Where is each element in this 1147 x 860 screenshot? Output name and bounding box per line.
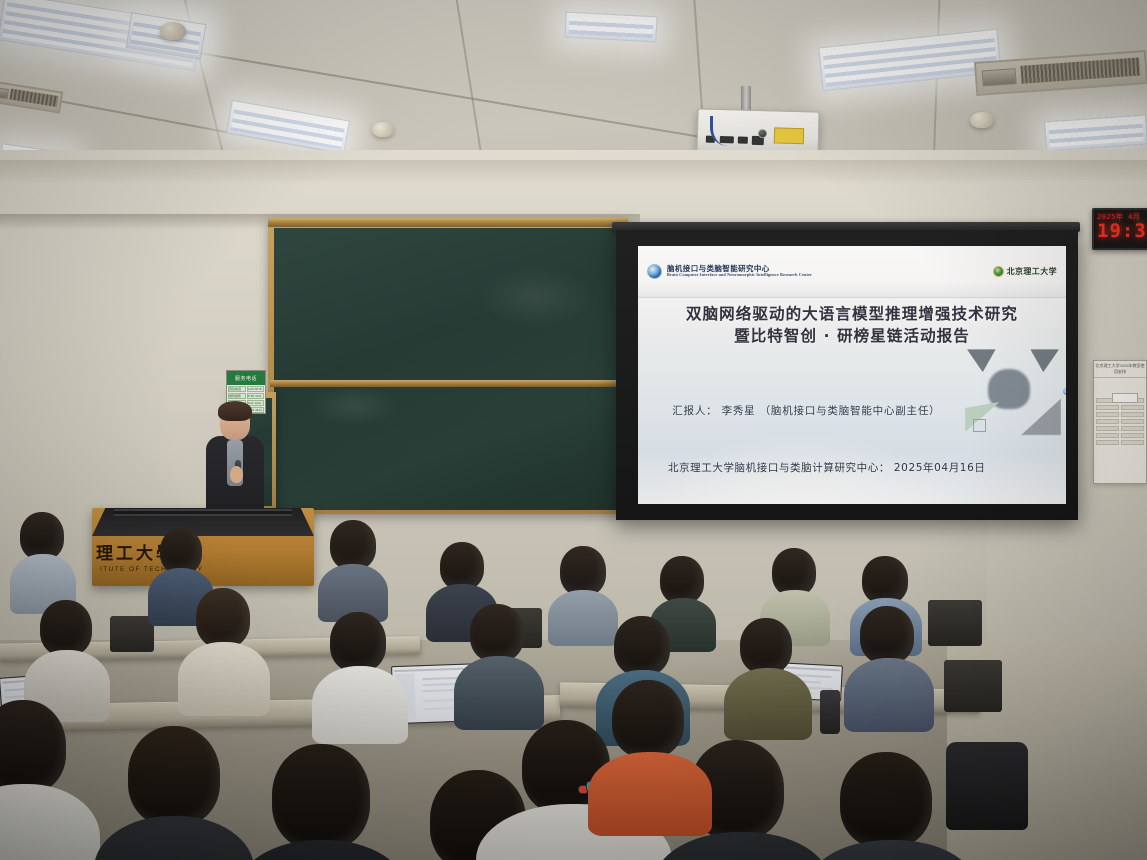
slide-footer-line: 北京理工大学脑机接口与类脑计算研究中心： 2025年04月16日 <box>668 460 986 475</box>
artifact-square <box>973 419 986 432</box>
ceiling-light-panel <box>818 29 1002 92</box>
chalkboard <box>274 228 622 510</box>
podium-top-panel <box>92 508 314 536</box>
footer-date: 2025年04月16日 <box>894 462 986 474</box>
seat-back <box>928 600 982 646</box>
lecture-hall-photo: 服务电话 值班电话1234 5678 维修报修8765 4321 安保中心111… <box>0 0 1147 860</box>
slide-shadow-artifact <box>965 349 1061 437</box>
presentation-slide: 脑机接口与类脑智能研究中心 Brain Computer Interface a… <box>638 246 1066 504</box>
center-name-en: Brain Computer Interface and Neuromorphi… <box>667 273 812 278</box>
university-name-cn: 北京理工大学 <box>1007 266 1057 277</box>
artifact-dot <box>1063 388 1066 395</box>
notice-rows <box>1094 396 1146 447</box>
projector-warning-label <box>774 127 804 144</box>
wall-upper-strip <box>0 160 1147 182</box>
ceiling-light-panel <box>1044 114 1147 151</box>
slide-header: 脑机接口与类脑智能研究中心 Brain Computer Interface a… <box>638 246 1066 298</box>
bit-university-logo-icon <box>993 266 1004 277</box>
smoke-detector-icon <box>160 22 186 40</box>
ceiling-light-panel <box>226 100 350 154</box>
air-conditioner-vent-icon <box>0 81 63 114</box>
chalk-tray <box>270 380 626 387</box>
chalkboard-top-rail <box>268 218 628 227</box>
smoke-detector-icon <box>372 122 394 137</box>
slide-header-center-names: 脑机接口与类脑智能研究中心 Brain Computer Interface a… <box>667 265 812 278</box>
presenter-hair <box>218 401 252 421</box>
presenter-name: 李秀星 <box>722 405 756 417</box>
projector-mount <box>741 86 751 112</box>
notice-badge <box>1112 393 1138 403</box>
bci-center-logo-icon <box>647 264 662 279</box>
presenter-hand <box>230 466 243 483</box>
slide-presenter-line: 汇报人： 李秀星 （脑机接口与类脑智能中心副主任） <box>672 403 940 418</box>
classroom-schedule-notice: 北京理工大学2025年教室使用安排 <box>1093 360 1147 484</box>
water-bottle-icon <box>820 690 840 734</box>
presenter-affiliation: （脑机接口与类脑智能中心副主任） <box>760 405 941 417</box>
backpack-icon <box>946 742 1028 830</box>
slide-title-line1: 双脑网络驱动的大语言模型推理增强技术研究 <box>638 303 1066 325</box>
digital-clock-icon: 2025年 4月 19:3 <box>1092 208 1147 250</box>
slide-header-right: 北京理工大学 <box>993 266 1057 277</box>
ceiling-light-panel <box>564 12 657 43</box>
slide-header-left: 脑机接口与类脑智能研究中心 Brain Computer Interface a… <box>647 264 812 279</box>
slide-title-line2: 暨比特智创 · 研榜星链活动报告 <box>638 325 1066 347</box>
emergency-phone-sign-title: 服务电话 <box>227 371 265 385</box>
footer-organization: 北京理工大学脑机接口与类脑计算研究中心： <box>668 462 890 474</box>
slide-title: 双脑网络驱动的大语言模型推理增强技术研究 暨比特智创 · 研榜星链活动报告 <box>638 303 1066 347</box>
presenter-label: 汇报人： <box>672 405 717 417</box>
projection-screen: 脑机接口与类脑智能研究中心 Brain Computer Interface a… <box>616 230 1078 520</box>
clock-time: 19:3 <box>1094 222 1147 241</box>
notice-title: 北京理工大学2025年教室使用安排 <box>1094 361 1146 378</box>
seat-back <box>110 616 154 652</box>
seat-back <box>944 660 1002 712</box>
smoke-detector-icon <box>970 112 994 128</box>
